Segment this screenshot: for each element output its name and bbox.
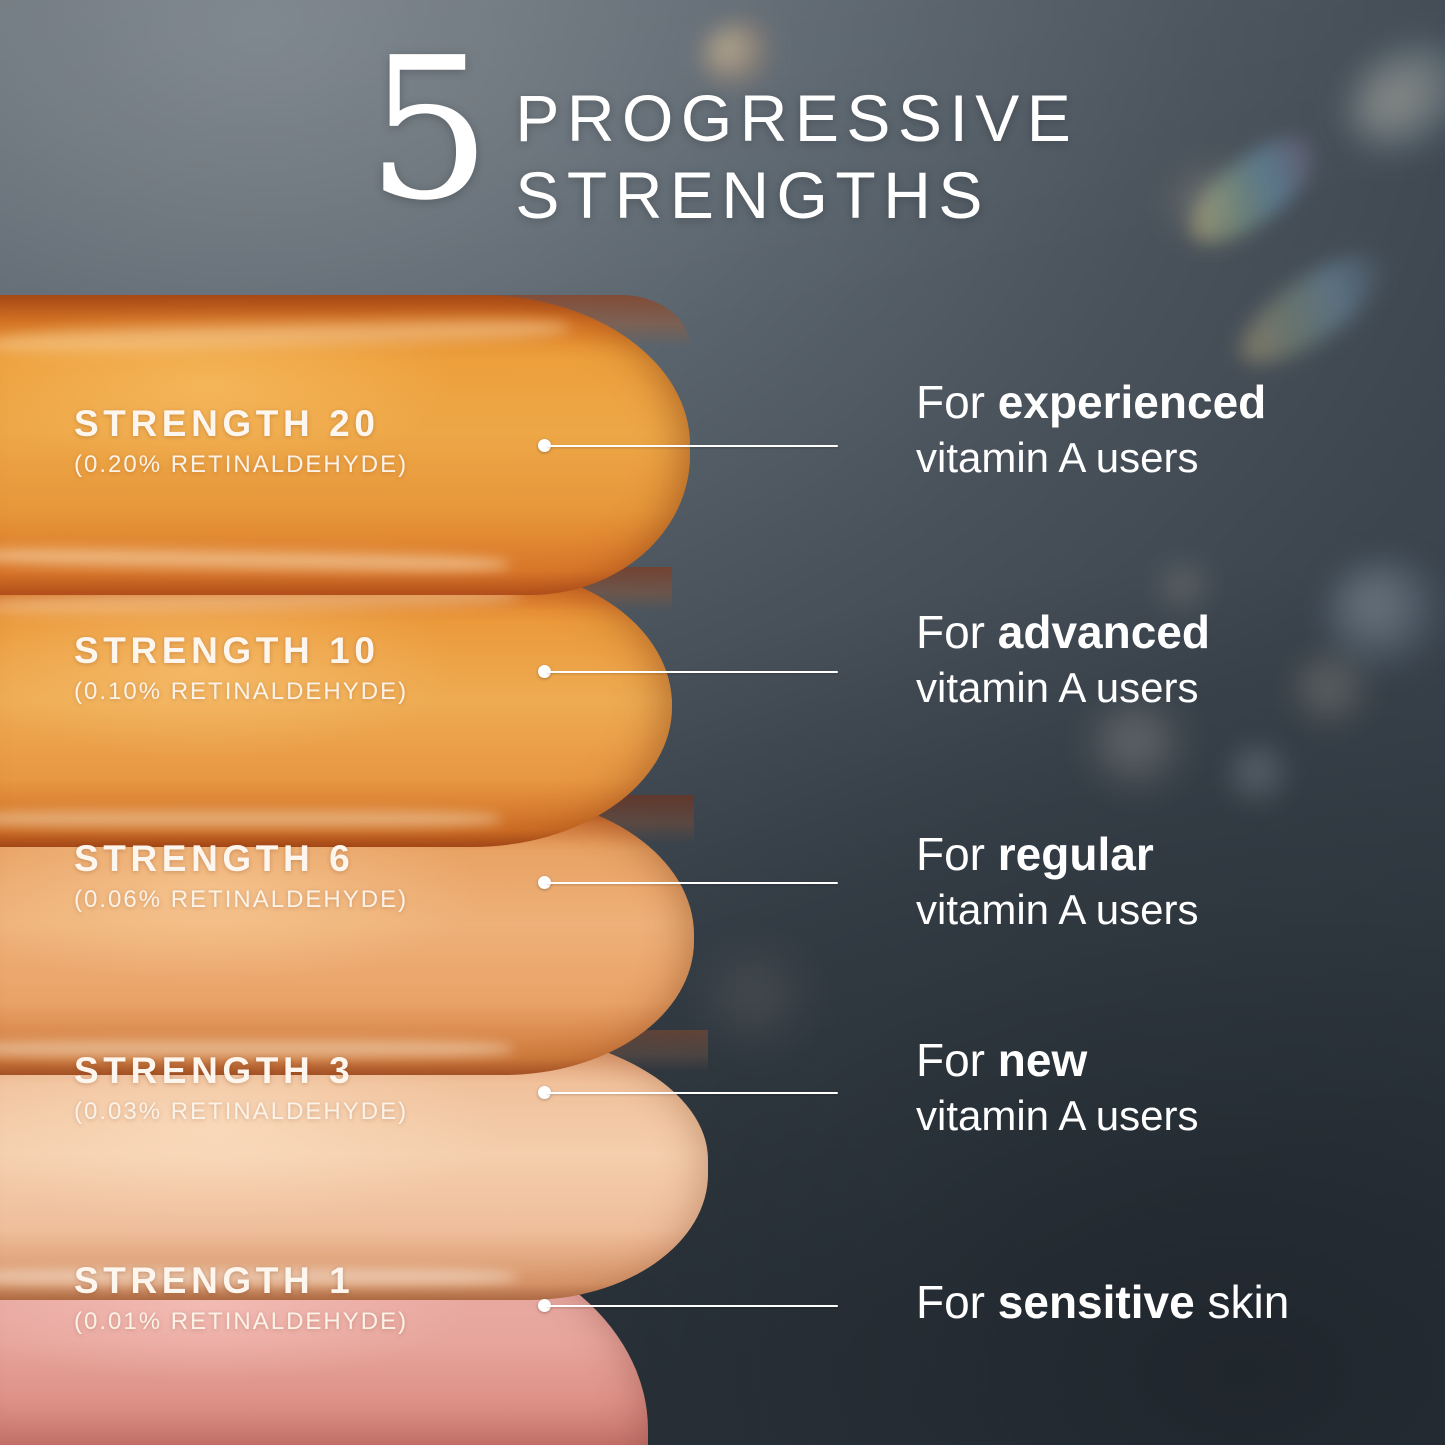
callout-line-2: vitamin A users — [916, 886, 1198, 934]
strength-label-1: STRENGTH 1 (0.01% RETINALDEHYDE) — [74, 1262, 408, 1334]
strength-title: STRENGTH 6 — [74, 840, 408, 877]
leader-line-10 — [538, 661, 838, 681]
headline-words: PROGRESSIVE STRENGTHS — [515, 52, 1078, 233]
leader-stroke — [547, 1092, 838, 1095]
strength-label-3: STRENGTH 3 (0.03% RETINALDEHYDE) — [74, 1052, 408, 1124]
page-title: 5 PROGRESSIVE STRENGTHS — [0, 52, 1445, 233]
strength-label-20: STRENGTH 20 (0.20% RETINALDEHYDE) — [74, 405, 408, 477]
headline-line-2: STRENGTHS — [515, 157, 1078, 234]
strength-subtitle: (0.03% RETINALDEHYDE) — [74, 1100, 408, 1124]
callout-prefix: For — [916, 828, 998, 880]
leader-stroke — [547, 445, 838, 448]
callout-emphasis: sensitive — [998, 1276, 1195, 1328]
callout-emphasis: experienced — [998, 376, 1266, 428]
callout-line-1: For experienced — [916, 378, 1266, 428]
callout-emphasis: advanced — [998, 606, 1210, 658]
callout-prefix: For — [916, 606, 998, 658]
strength-title: STRENGTH 20 — [74, 405, 408, 442]
callout-line-1: For advanced — [916, 608, 1210, 658]
strength-subtitle: (0.06% RETINALDEHYDE) — [74, 888, 408, 912]
callout-emphasis: new — [998, 1034, 1087, 1086]
leader-line-6 — [538, 872, 838, 892]
leader-line-20 — [538, 435, 838, 455]
leader-stroke — [547, 882, 838, 885]
strength-title: STRENGTH 1 — [74, 1262, 408, 1299]
callout-1: For sensitive skin — [916, 1278, 1289, 1328]
headline-line-1: PROGRESSIVE — [515, 80, 1078, 157]
callout-emphasis: regular — [998, 828, 1154, 880]
callout-suffix: skin — [1195, 1276, 1290, 1328]
strength-subtitle: (0.01% RETINALDEHYDE) — [74, 1310, 408, 1334]
callout-line-2: vitamin A users — [916, 1092, 1198, 1140]
leader-line-3 — [538, 1082, 838, 1102]
strength-label-10: STRENGTH 10 (0.10% RETINALDEHYDE) — [74, 632, 408, 704]
callout-3: For new vitamin A users — [916, 1036, 1198, 1140]
leader-line-1 — [538, 1295, 838, 1315]
callout-line-2: vitamin A users — [916, 434, 1266, 482]
strength-title: STRENGTH 10 — [74, 632, 408, 669]
product-infographic: 5 PROGRESSIVE STRENGTHS STRENGTH 20 (0.2… — [0, 0, 1445, 1445]
callout-prefix: For — [916, 1276, 998, 1328]
callout-line-1: For sensitive skin — [916, 1278, 1289, 1328]
swatch-strength-10 — [0, 567, 672, 847]
strength-title: STRENGTH 3 — [74, 1052, 408, 1089]
callout-prefix: For — [916, 376, 998, 428]
callout-line-2: vitamin A users — [916, 664, 1210, 712]
headline-number: 5 — [367, 44, 490, 216]
leader-stroke — [547, 1305, 838, 1308]
leader-stroke — [547, 671, 838, 674]
strength-subtitle: (0.20% RETINALDEHYDE) — [74, 453, 408, 477]
callout-20: For experienced vitamin A users — [916, 378, 1266, 482]
callout-line-1: For new — [916, 1036, 1198, 1086]
callout-line-1: For regular — [916, 830, 1198, 880]
callout-prefix: For — [916, 1034, 998, 1086]
strength-label-6: STRENGTH 6 (0.06% RETINALDEHYDE) — [74, 840, 408, 912]
strength-subtitle: (0.10% RETINALDEHYDE) — [74, 680, 408, 704]
callout-6: For regular vitamin A users — [916, 830, 1198, 934]
callout-10: For advanced vitamin A users — [916, 608, 1210, 712]
